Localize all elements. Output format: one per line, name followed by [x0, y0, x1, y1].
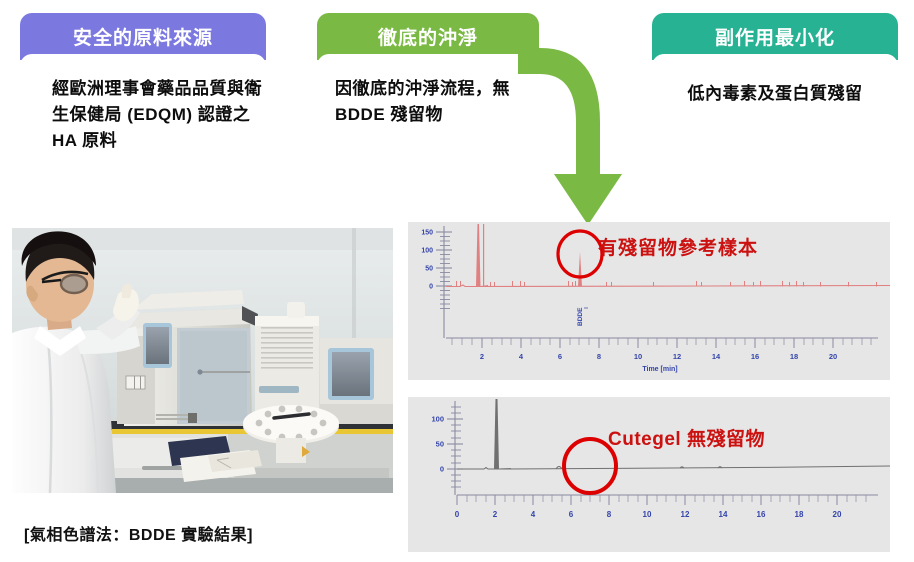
svg-text:20: 20 [833, 510, 842, 519]
svg-text:50: 50 [436, 440, 444, 449]
svg-text:100: 100 [431, 415, 444, 424]
svg-text:18: 18 [790, 352, 798, 361]
chromatogram-cutegel-sample: 100 50 0 [408, 397, 890, 552]
svg-text:6: 6 [569, 510, 574, 519]
svg-text:BDDE: BDDE [577, 307, 584, 326]
svg-text:0: 0 [440, 465, 444, 474]
card-side-effect-body: 低內毒素及蛋白質殘留 [652, 54, 898, 146]
card-thorough-rinse: 徹底的沖淨 因徹底的沖淨流程，無 BDDE 殘留物 [317, 13, 539, 188]
card-thorough-rinse-title: 徹底的沖淨 [378, 23, 478, 50]
curved-down-arrow-icon [518, 48, 638, 228]
figure-caption: [氣相色譜法：BDDE 實驗結果] [24, 521, 253, 545]
card-thorough-rinse-body: 因徹底的沖淨流程，無 BDDE 殘留物 [317, 54, 539, 188]
svg-text:12: 12 [673, 352, 681, 361]
svg-text:20: 20 [829, 352, 837, 361]
card-safe-source-title: 安全的原料來源 [73, 23, 213, 50]
svg-text:6: 6 [558, 352, 562, 361]
annotation-label-residue-reference: 有殘留物參考樣本 [598, 233, 758, 260]
svg-text:14: 14 [712, 352, 721, 361]
card-safe-source: 安全的原料來源 經歐洲理事會藥品品質與衛生保健局 (EDQM) 認證之 HA 原… [20, 13, 266, 203]
svg-text:12: 12 [681, 510, 690, 519]
svg-text:10: 10 [643, 510, 652, 519]
card-safe-source-header: 安全的原料來源 [20, 13, 266, 60]
svg-text:18: 18 [795, 510, 804, 519]
annotation-label-cutegel-clean: Cutegel 無殘留物 [608, 424, 765, 451]
svg-text:50: 50 [425, 266, 433, 273]
svg-text:2: 2 [480, 352, 484, 361]
svg-text:14: 14 [719, 510, 728, 519]
svg-text:16: 16 [757, 510, 766, 519]
svg-text:0: 0 [429, 284, 433, 291]
lab-photo-gc-instrument [12, 228, 393, 493]
svg-text:150: 150 [421, 230, 433, 237]
svg-text:8: 8 [607, 510, 612, 519]
svg-text:0: 0 [455, 510, 460, 519]
card-side-effect-header: 副作用最小化 [652, 13, 898, 60]
card-thorough-rinse-header: 徹底的沖淨 [317, 13, 539, 60]
svg-text:Time [min]: Time [min] [642, 366, 677, 373]
svg-text:8: 8 [597, 352, 601, 361]
svg-text:10: 10 [634, 352, 642, 361]
svg-text:100: 100 [421, 248, 433, 255]
card-safe-source-body: 經歐洲理事會藥品品質與衛生保健局 (EDQM) 認證之 HA 原料 [20, 54, 266, 204]
svg-text:16: 16 [751, 352, 759, 361]
svg-text:4: 4 [531, 510, 536, 519]
svg-text:2: 2 [493, 510, 498, 519]
card-side-effect: 副作用最小化 低內毒素及蛋白質殘留 [652, 13, 898, 146]
card-side-effect-title: 副作用最小化 [715, 23, 835, 50]
